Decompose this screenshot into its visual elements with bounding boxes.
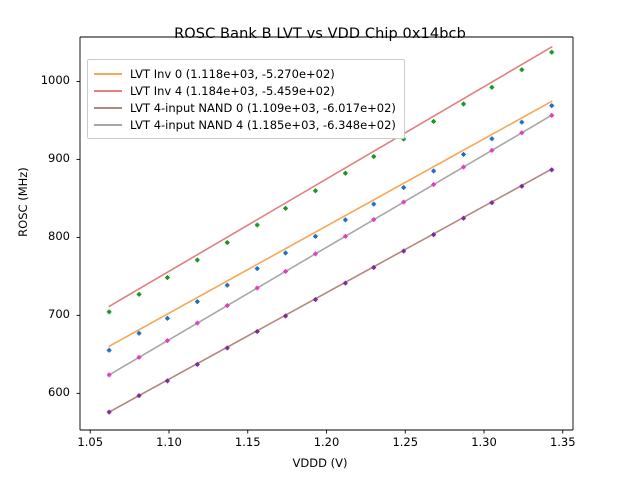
data-point <box>343 171 348 176</box>
data-point <box>165 316 170 321</box>
data-point <box>107 348 112 353</box>
legend-item-label: LVT Inv 0 (1.118e+03, -5.270e+02) <box>130 67 335 81</box>
data-point <box>225 240 230 245</box>
data-point <box>165 275 170 280</box>
data-point <box>343 217 348 222</box>
data-point <box>519 120 524 125</box>
legend-item-label: LVT 4-input NAND 0 (1.109e+03, -6.017e+0… <box>130 101 396 115</box>
data-point <box>371 154 376 159</box>
data-point <box>519 67 524 72</box>
legend-item: LVT Inv 4 (1.184e+03, -5.459e+02) <box>94 82 396 99</box>
data-point <box>549 167 554 172</box>
data-point <box>371 202 376 207</box>
legend-item-label: LVT Inv 4 (1.184e+03, -5.459e+02) <box>130 84 335 98</box>
data-point <box>225 283 230 288</box>
data-point <box>313 188 318 193</box>
chart-legend: LVT Inv 0 (1.118e+03, -5.270e+02) LVT In… <box>87 59 405 139</box>
data-point <box>195 299 200 304</box>
data-point <box>489 136 494 141</box>
legend-color-swatch <box>94 90 122 92</box>
data-point <box>313 234 318 239</box>
legend-color-swatch <box>94 107 122 109</box>
data-point <box>461 152 466 157</box>
legend-color-swatch <box>94 124 122 126</box>
legend-item: LVT 4-input NAND 0 (1.109e+03, -6.017e+0… <box>94 99 396 116</box>
data-point <box>283 206 288 211</box>
data-point <box>195 258 200 263</box>
legend-item: LVT Inv 0 (1.118e+03, -5.270e+02) <box>94 65 396 82</box>
data-point <box>283 251 288 256</box>
legend-color-swatch <box>94 73 122 75</box>
data-point <box>549 50 554 55</box>
chart-figure: ROSC Bank B LVT vs VDD Chip 0x14bcb ROSC… <box>0 0 640 480</box>
data-point <box>431 169 436 174</box>
legend-item-label: LVT 4-input NAND 4 (1.185e+03, -6.348e+0… <box>130 118 396 132</box>
data-point <box>401 185 406 190</box>
data-point <box>549 103 554 108</box>
data-point <box>137 292 142 297</box>
data-point <box>107 309 112 314</box>
data-point <box>255 266 260 271</box>
data-point <box>489 85 494 90</box>
data-point <box>461 102 466 107</box>
legend-item: LVT 4-input NAND 4 (1.185e+03, -6.348e+0… <box>94 116 396 133</box>
data-point <box>431 119 436 124</box>
data-point <box>255 223 260 228</box>
